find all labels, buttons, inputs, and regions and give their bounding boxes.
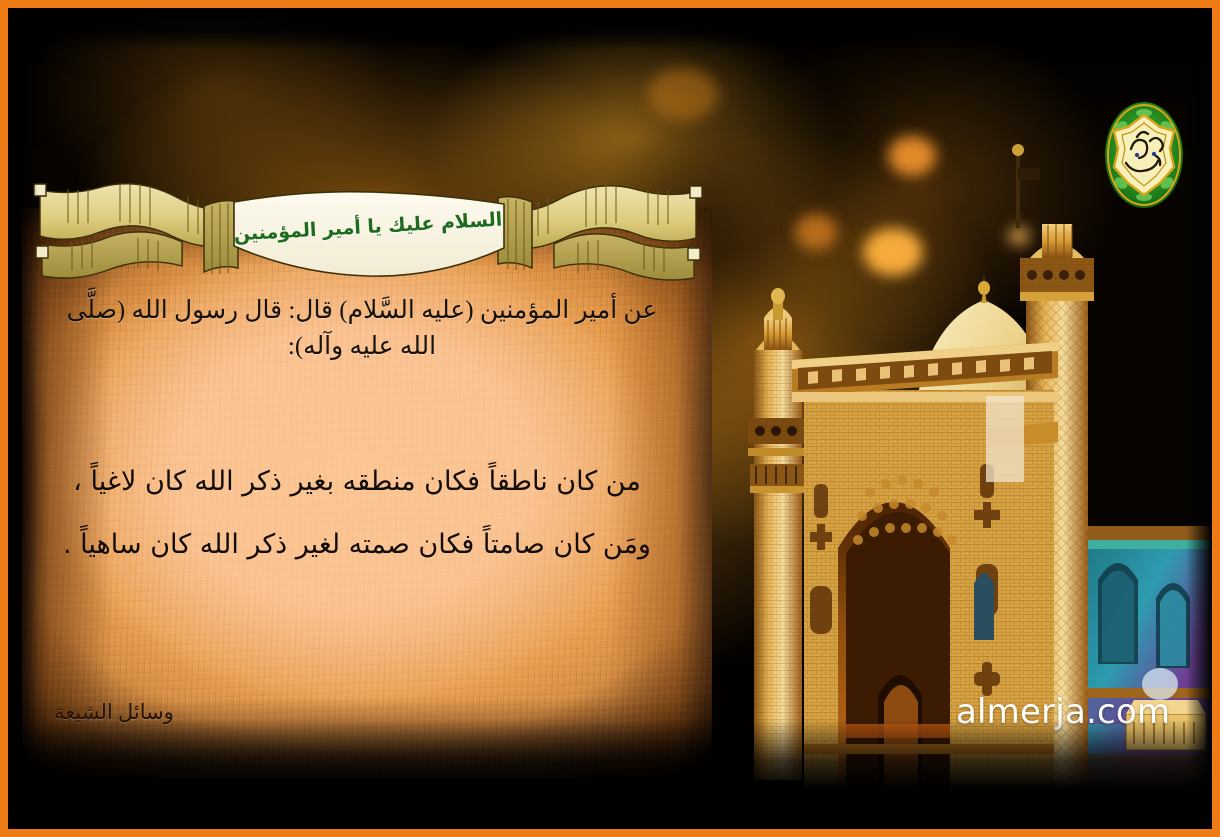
vignette-bottom — [8, 719, 1212, 829]
hadith-body-text: من كان ناطقاً فكان منطقه بغير ذكر الله ك… — [52, 450, 662, 577]
vignette-right — [1186, 8, 1212, 829]
ya-ali-medallion — [1104, 101, 1184, 209]
vignette-left — [8, 8, 38, 829]
vignette-top — [8, 8, 1212, 50]
hadith-intro-text: عن أمير المؤمنين (عليه السَّلام) قال: قا… — [62, 293, 662, 366]
poster-canvas: عن أمير المؤمنين (عليه السَّلام) قال: قا… — [0, 0, 1220, 837]
parchment-scroll: عن أمير المؤمنين (عليه السَّلام) قال: قا… — [22, 208, 712, 778]
